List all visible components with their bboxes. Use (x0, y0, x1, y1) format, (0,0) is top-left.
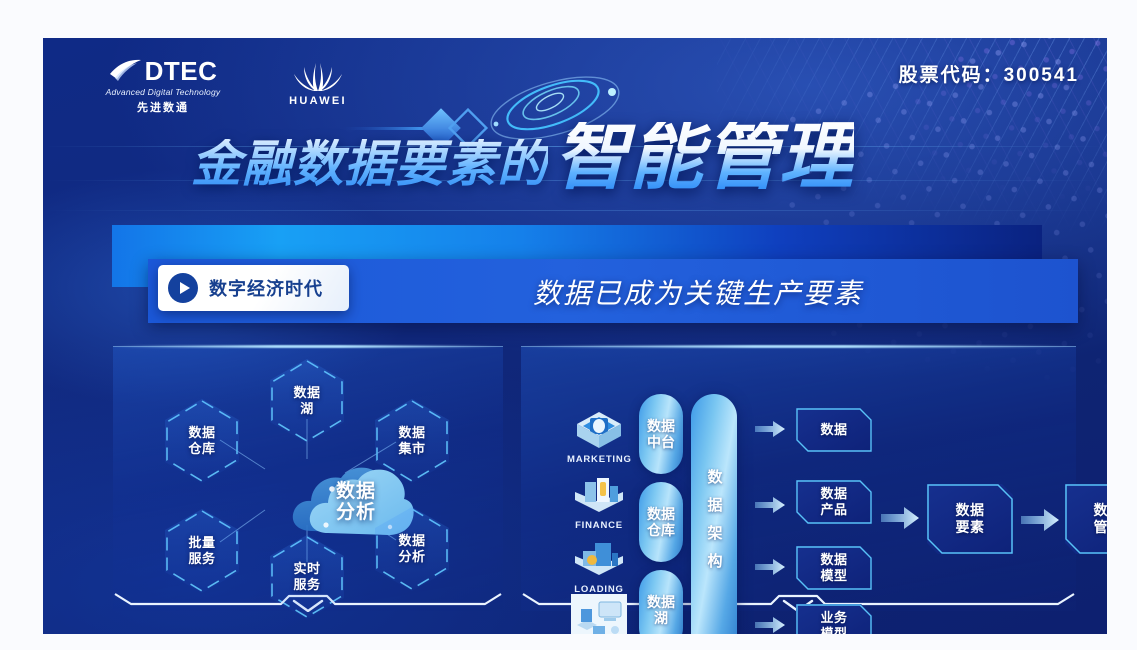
source-workspace[interactable] (567, 594, 631, 634)
source-finance[interactable]: FINANCE (567, 474, 631, 531)
huawei-logo: HUAWEI (276, 58, 360, 107)
flow-arrow-2 (755, 496, 785, 514)
output-box-business-model[interactable]: 业务模型 (796, 604, 872, 634)
capsule-data-midplatform[interactable]: 数据中台 (639, 394, 683, 474)
section-badge-label: 数字经济时代 (209, 275, 323, 301)
play-icon (168, 273, 198, 303)
huawei-wordmark: HUAWEI (276, 95, 360, 107)
logo-group: DTEC Advanced Digital Technology 先进数通 (88, 58, 360, 115)
hex-node-data-lake[interactable]: 数据湖 (270, 359, 344, 443)
loading-truck-icon (571, 538, 627, 582)
finance-building-icon (571, 474, 627, 518)
architecture-column[interactable]: 数据架构 (691, 394, 737, 634)
dtec-wordmark: DTEC (145, 58, 218, 84)
capsule-data-warehouse[interactable]: 数据仓库 (639, 482, 683, 562)
architecture-label: 数据架构 (704, 469, 725, 581)
hex-node-batch-service[interactable]: 批量服务 (165, 509, 239, 593)
flow-arrow-final (1021, 508, 1059, 532)
stock-code-label: 股票代码：300541 (899, 60, 1079, 87)
output-box-data[interactable]: 数据 (796, 408, 872, 452)
output-box-data-product[interactable]: 数据产品 (796, 480, 872, 524)
scanline-decor-3 (43, 210, 1107, 211)
source-loading[interactable]: LOADING (567, 538, 631, 595)
source-finance-caption: FINANCE (567, 520, 631, 531)
hex-node-data-warehouse[interactable]: 数据仓库 (165, 399, 239, 483)
dtec-tagline: Advanced Digital Technology (88, 87, 238, 97)
section-badge[interactable]: 数字经济时代 (158, 265, 349, 311)
page-title: 金融数据要素的 智能管理 (191, 122, 854, 192)
title-accent: 智能管理 (554, 122, 854, 192)
flow-arrow-3 (755, 558, 785, 576)
slide-root: DTEC Advanced Digital Technology 先进数通 (43, 38, 1107, 634)
result-box-data-element[interactable]: 数据要素 (927, 484, 1013, 554)
final-box-data-management[interactable]: 数据管理 (1065, 484, 1107, 554)
huawei-flower-icon (276, 58, 360, 92)
title-primary: 金融数据要素的 (191, 139, 548, 192)
dtec-logo: DTEC Advanced Digital Technology 先进数通 (88, 58, 238, 115)
dtec-arrow-icon (109, 58, 143, 84)
marketing-cube-icon (571, 408, 627, 452)
flow-arrow-merge (881, 506, 919, 530)
flow-arrow-1 (755, 420, 785, 438)
capsule-data-lake[interactable]: 数据湖 (639, 570, 683, 634)
output-box-data-model[interactable]: 数据模型 (796, 546, 872, 590)
source-marketing-caption: MARKETING (567, 454, 631, 465)
workspace-illustration-icon (571, 594, 627, 634)
flow-arrow-4 (755, 616, 785, 634)
source-marketing[interactable]: MARKETING (567, 408, 631, 465)
section-subtitle: 数据已成为关键生产要素 (533, 272, 863, 312)
dtec-chinese-name: 先进数通 (88, 99, 238, 115)
